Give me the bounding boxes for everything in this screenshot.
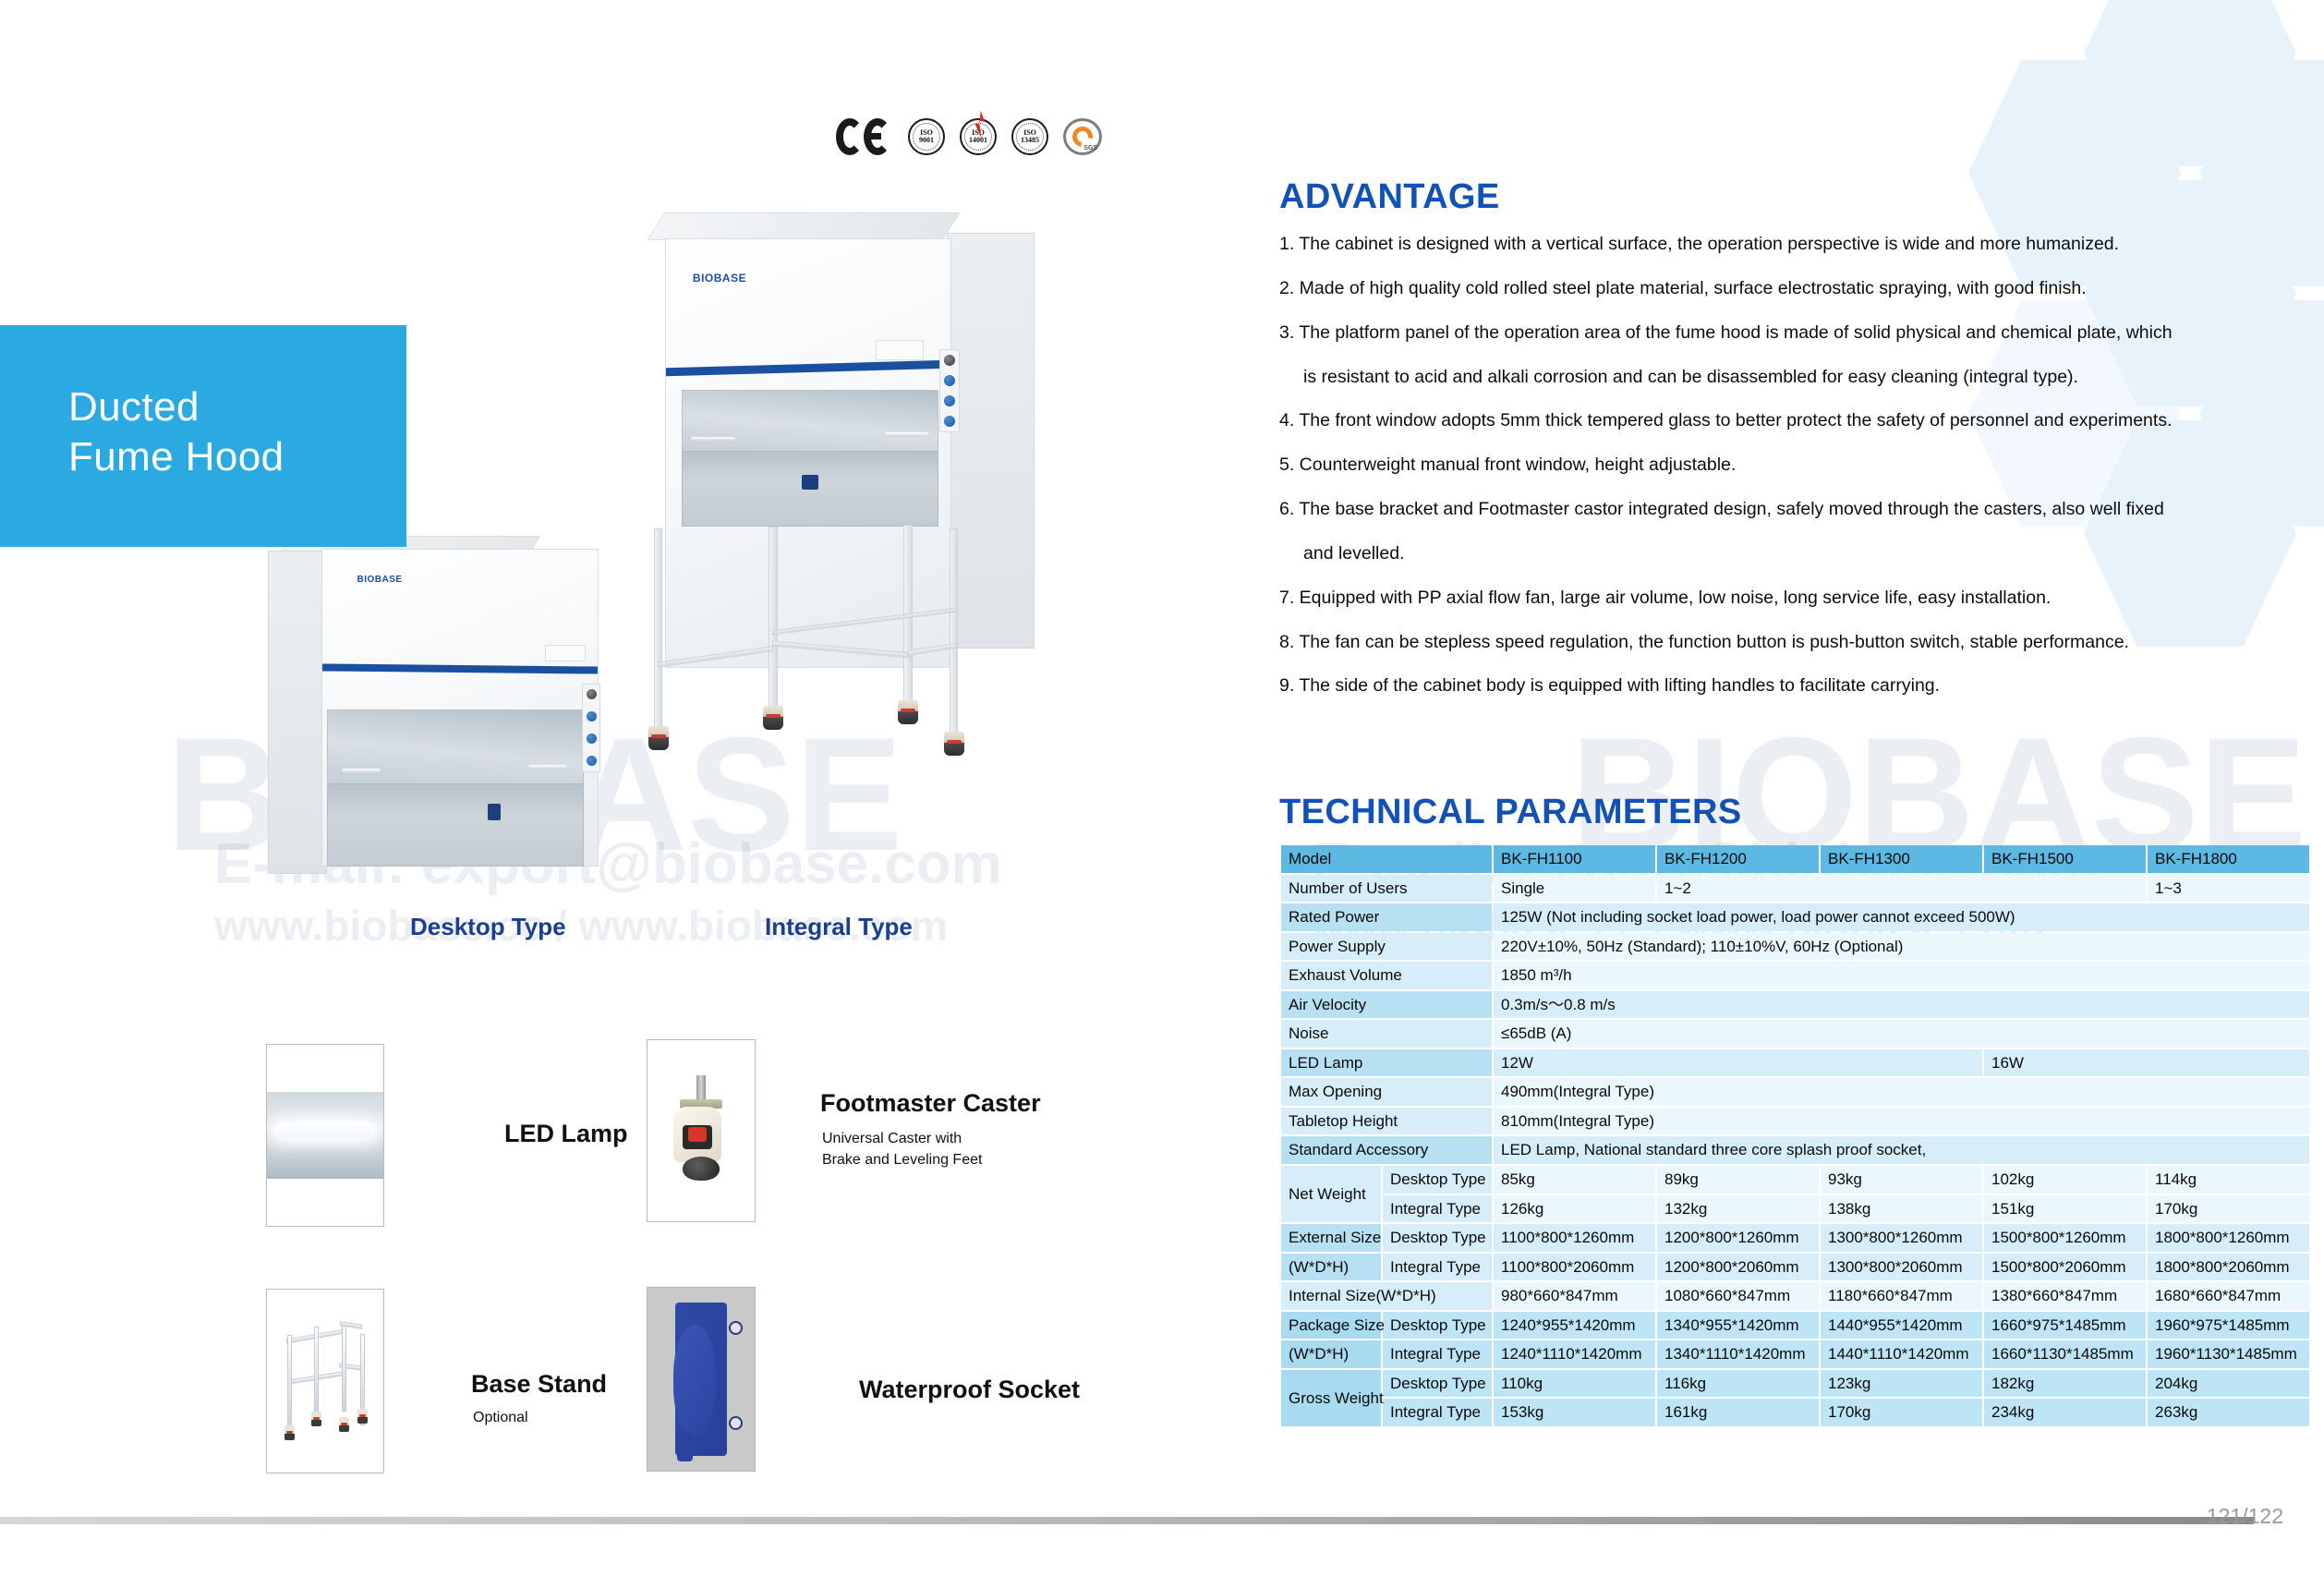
advantage-heading: ADVANTAGE [1279, 177, 1500, 217]
row-label: Tabletop Height [1281, 1108, 1492, 1135]
table-row-power-supply: Power Supply 220V±10%, 50Hz (Standard); … [1281, 933, 2309, 961]
advantage-item: 3. The platform panel of the operation a… [1279, 321, 2258, 345]
led-lamp-icon [267, 1092, 383, 1179]
row-value: 1660*1130*1485mm [1984, 1340, 2146, 1368]
model-value: BK-FH1200 [1657, 845, 1819, 873]
row-value: 220V±10%, 50Hz (Standard); 110±10%V, 60H… [1494, 933, 2309, 961]
row-label: Net Weight [1281, 1166, 1381, 1222]
row-value: 170kg [1821, 1399, 1982, 1426]
row-label: Number of Users [1281, 875, 1492, 903]
row-value: 12W [1494, 1049, 1982, 1077]
table-row-package-size-desktop: Package Size Desktop Type 1240*955*1420m… [1281, 1312, 2309, 1339]
row-value: 1180*660*847mm [1821, 1282, 1982, 1310]
row-value: 151kg [1984, 1195, 2146, 1223]
row-label: Internal Size(W*D*H) [1281, 1282, 1492, 1310]
table-row-noise: Noise ≤65dB (A) [1281, 1020, 2309, 1048]
row-label: Gross Weight [1281, 1370, 1381, 1426]
row-value: ≤65dB (A) [1494, 1020, 2309, 1048]
row-value: 138kg [1821, 1195, 1982, 1223]
row-label: Max Opening [1281, 1078, 1492, 1106]
row-value: 1440*955*1420mm [1821, 1312, 1982, 1339]
iso-14001-badge-icon: ISO 14001 [960, 118, 997, 155]
row-value: 1680*660*847mm [2148, 1282, 2309, 1310]
base-stand-image-frame [266, 1289, 384, 1473]
technical-parameters-heading: TECHNICAL PARAMETERS [1279, 793, 1742, 832]
advantage-item: 9. The side of the cabinet body is equip… [1279, 674, 2258, 697]
model-label: Model [1281, 845, 1492, 873]
led-lamp-image-frame [266, 1044, 384, 1227]
page-number: 121/122 [2207, 1504, 2283, 1529]
advantage-item: 1. The cabinet is designed with a vertic… [1279, 233, 2258, 256]
socket-image-frame [647, 1287, 756, 1472]
row-value: 85kg [1494, 1166, 1655, 1194]
sub-label: Integral Type [1383, 1195, 1492, 1223]
feature-footmaster-caster: Footmaster Caster Universal Caster with … [647, 1039, 1238, 1252]
sub-label: Integral Type [1383, 1340, 1492, 1368]
row-value: 153kg [1494, 1399, 1655, 1426]
row-label: External Size [1281, 1224, 1381, 1252]
row-value: 1500*800*1260mm [1984, 1224, 2146, 1252]
table-row-rated-power: Rated Power 125W (Not including socket l… [1281, 903, 2309, 931]
row-value: 1240*1110*1420mm [1494, 1340, 1655, 1368]
model-value: BK-FH1100 [1494, 845, 1655, 873]
row-value: 89kg [1657, 1166, 1819, 1194]
table-row-standard-accessory: Standard Accessory LED Lamp, National st… [1281, 1136, 2309, 1164]
product-title-line1: Ducted [68, 382, 284, 432]
base-stand-icon [284, 1312, 368, 1451]
spec-sticker-integral [876, 340, 924, 360]
footer-divider [0, 1517, 2254, 1524]
row-value: 204kg [2148, 1370, 2309, 1398]
advantage-list: 1. The cabinet is designed with a vertic… [1279, 233, 2258, 719]
row-value: 1~2 [1657, 875, 2146, 903]
row-value: 93kg [1821, 1166, 1982, 1194]
table-row-external-size-integral: (W*D*H) Integral Type 1100*800*2060mm 12… [1281, 1254, 2309, 1281]
feature-caster-title: Footmaster Caster [820, 1089, 1041, 1118]
row-value: 1340*1110*1420mm [1657, 1340, 1819, 1368]
iso-9001-badge-icon: ISO 9001 [908, 118, 945, 155]
row-label: LED Lamp [1281, 1049, 1492, 1077]
row-value: 170kg [2148, 1195, 2309, 1223]
row-label: (W*D*H) [1281, 1340, 1381, 1368]
product-photo-desktop-type: BIOBASE [268, 536, 619, 896]
row-value: 1080*660*847mm [1657, 1282, 1819, 1310]
row-value: 116kg [1657, 1370, 1819, 1398]
advantage-item: 8. The fan can be stepless speed regulat… [1279, 631, 2258, 654]
row-value: 1380*660*847mm [1984, 1282, 2146, 1310]
row-value: 110kg [1494, 1370, 1655, 1398]
row-value: 123kg [1821, 1370, 1982, 1398]
caption-desktop-type: Desktop Type [410, 913, 566, 941]
row-label: (W*D*H) [1281, 1254, 1381, 1281]
table-row-package-size-integral: (W*D*H) Integral Type 1240*1110*1420mm 1… [1281, 1340, 2309, 1368]
table-row-net-weight-desktop: Net Weight Desktop Type 85kg 89kg 93kg 1… [1281, 1166, 2309, 1194]
table-row-max-opening: Max Opening 490mm(Integral Type) [1281, 1078, 2309, 1106]
table-row-led-lamp: LED Lamp 12W 16W [1281, 1049, 2309, 1077]
row-value: 1~3 [2148, 875, 2309, 903]
row-label: Standard Accessory [1281, 1136, 1492, 1164]
advantage-item: is resistant to acid and alkali corrosio… [1303, 366, 2258, 389]
row-value: 810mm(Integral Type) [1494, 1108, 2309, 1135]
product-title-banner: Ducted Fume Hood [0, 325, 406, 547]
model-value: BK-FH1500 [1984, 845, 2146, 873]
advantage-item: 5. Counterweight manual front window, he… [1279, 454, 2258, 477]
row-value: 16W [1984, 1049, 2309, 1077]
row-value: 126kg [1494, 1195, 1655, 1223]
table-row-gross-weight-desktop: Gross Weight Desktop Type 110kg 116kg 12… [1281, 1370, 2309, 1398]
row-value: Single [1494, 875, 1655, 903]
row-label: Exhaust Volume [1281, 962, 1492, 989]
row-value: LED Lamp, National standard three core s… [1494, 1136, 2309, 1164]
ce-mark-icon [836, 118, 893, 155]
table-row-model: Model BK-FH1100 BK-FH1200 BK-FH1300 BK-F… [1281, 845, 2309, 873]
row-value: 1200*800*2060mm [1657, 1254, 1819, 1281]
feature-socket-title: Waterproof Socket [859, 1376, 1080, 1404]
row-value: 182kg [1984, 1370, 2146, 1398]
table-row-gross-weight-integral: Integral Type 153kg 161kg 170kg 234kg 26… [1281, 1399, 2309, 1426]
sub-label: Integral Type [1383, 1399, 1492, 1426]
advantage-item: 4. The front window adopts 5mm thick tem… [1279, 409, 2258, 432]
brand-logo-desktop: BIOBASE [356, 573, 404, 588]
certification-badges: ISO 9001 ISO 14001 ISO 13485 SGS [836, 118, 1102, 155]
advantage-item: 6. The base bracket and Footmaster casto… [1279, 498, 2258, 521]
product-photo-integral-type: BIOBASE [637, 212, 1035, 896]
feature-caster-subtitle: Universal Caster with Brake and Leveling… [822, 1128, 982, 1170]
brand-logo-integral: BIOBASE [691, 270, 748, 286]
row-value: 234kg [1984, 1399, 2146, 1426]
row-value: 1300*800*1260mm [1821, 1224, 1982, 1252]
table-row-air-velocity: Air Velocity 0.3m/s～0.8 m/s [1281, 991, 2309, 1019]
row-value: 1850 m³/h [1494, 962, 2309, 989]
row-value: 114kg [2148, 1166, 2309, 1194]
row-value: 490mm(Integral Type) [1494, 1078, 2309, 1106]
row-label: Power Supply [1281, 933, 1492, 961]
feature-waterproof-socket: Waterproof Socket [647, 1287, 1238, 1509]
row-value: 1440*1110*1420mm [1821, 1340, 1982, 1368]
sub-label: Desktop Type [1383, 1370, 1492, 1398]
row-value: 1100*800*1260mm [1494, 1224, 1655, 1252]
technical-parameters-table-wrapper: Model BK-FH1100 BK-FH1200 BK-FH1300 BK-F… [1279, 843, 2295, 1428]
row-label: Air Velocity [1281, 991, 1492, 1019]
advantage-item: 2. Made of high quality cold rolled stee… [1279, 277, 2258, 300]
row-label: Rated Power [1281, 903, 1492, 931]
table-row-tabletop-height: Tabletop Height 810mm(Integral Type) [1281, 1108, 2309, 1135]
table-row-internal-size: Internal Size(W*D*H) 980*660*847mm 1080*… [1281, 1282, 2309, 1310]
row-value: 1300*800*2060mm [1821, 1254, 1982, 1281]
model-value: BK-FH1300 [1821, 845, 1982, 873]
row-value: 1960*1130*1485mm [2148, 1340, 2309, 1368]
row-value: 1100*800*2060mm [1494, 1254, 1655, 1281]
feature-led-lamp-title: LED Lamp [504, 1120, 628, 1148]
caster-icon [666, 1075, 736, 1186]
socket-icon [648, 1288, 755, 1471]
catalog-page: BIOBASE E-mail: export@biobase.com www.b… [0, 0, 2324, 1588]
row-value: 1500*800*2060mm [1984, 1254, 2146, 1281]
row-value: 132kg [1657, 1195, 1819, 1223]
sub-label: Integral Type [1383, 1254, 1492, 1281]
table-row-number-of-users: Number of Users Single 1~2 1~3 [1281, 875, 2309, 903]
row-value: 102kg [1984, 1166, 2146, 1194]
row-value: 161kg [1657, 1399, 1819, 1426]
row-value: 1800*800*1260mm [2148, 1224, 2309, 1252]
table-row-net-weight-integral: Integral Type 126kg 132kg 138kg 151kg 17… [1281, 1195, 2309, 1223]
sub-label: Desktop Type [1383, 1224, 1492, 1252]
row-value: 0.3m/s～0.8 m/s [1494, 991, 2309, 1019]
spec-sticker-desktop [545, 645, 586, 661]
caption-integral-type: Integral Type [765, 913, 913, 941]
row-value: 980*660*847mm [1494, 1282, 1655, 1310]
sub-label: Desktop Type [1383, 1166, 1492, 1194]
row-value: 1340*955*1420mm [1657, 1312, 1819, 1339]
table-row-exhaust-volume: Exhaust Volume 1850 m³/h [1281, 962, 2309, 989]
row-value: 1240*955*1420mm [1494, 1312, 1655, 1339]
row-value: 263kg [2148, 1399, 2309, 1426]
row-value: 1200*800*1260mm [1657, 1224, 1819, 1252]
row-value: 1960*975*1485mm [2148, 1312, 2309, 1339]
advantage-item: and levelled. [1303, 542, 2258, 565]
model-value: BK-FH1800 [2148, 845, 2309, 873]
advantage-item: 7. Equipped with PP axial flow fan, larg… [1279, 587, 2258, 610]
sgs-badge-icon: SGS [1063, 118, 1102, 155]
technical-parameters-table: Model BK-FH1100 BK-FH1200 BK-FH1300 BK-F… [1279, 843, 2311, 1428]
sgs-label: SGS [1083, 145, 1097, 152]
feature-base-stand-title: Base Stand [471, 1370, 607, 1399]
iso-13485-badge-icon: ISO 13485 [1011, 118, 1048, 155]
row-value: 125W (Not including socket load power, l… [1494, 903, 2309, 931]
sub-label: Desktop Type [1383, 1312, 1492, 1339]
caster-image-frame [647, 1039, 756, 1222]
product-title-line2: Fume Hood [68, 432, 284, 482]
row-label: Noise [1281, 1020, 1492, 1048]
feature-base-stand-subtitle: Optional [473, 1407, 528, 1428]
row-label: Package Size [1281, 1312, 1381, 1339]
table-row-external-size-desktop: External Size Desktop Type 1100*800*1260… [1281, 1224, 2309, 1252]
row-value: 1660*975*1485mm [1984, 1312, 2146, 1339]
row-value: 1800*800*2060mm [2148, 1254, 2309, 1281]
